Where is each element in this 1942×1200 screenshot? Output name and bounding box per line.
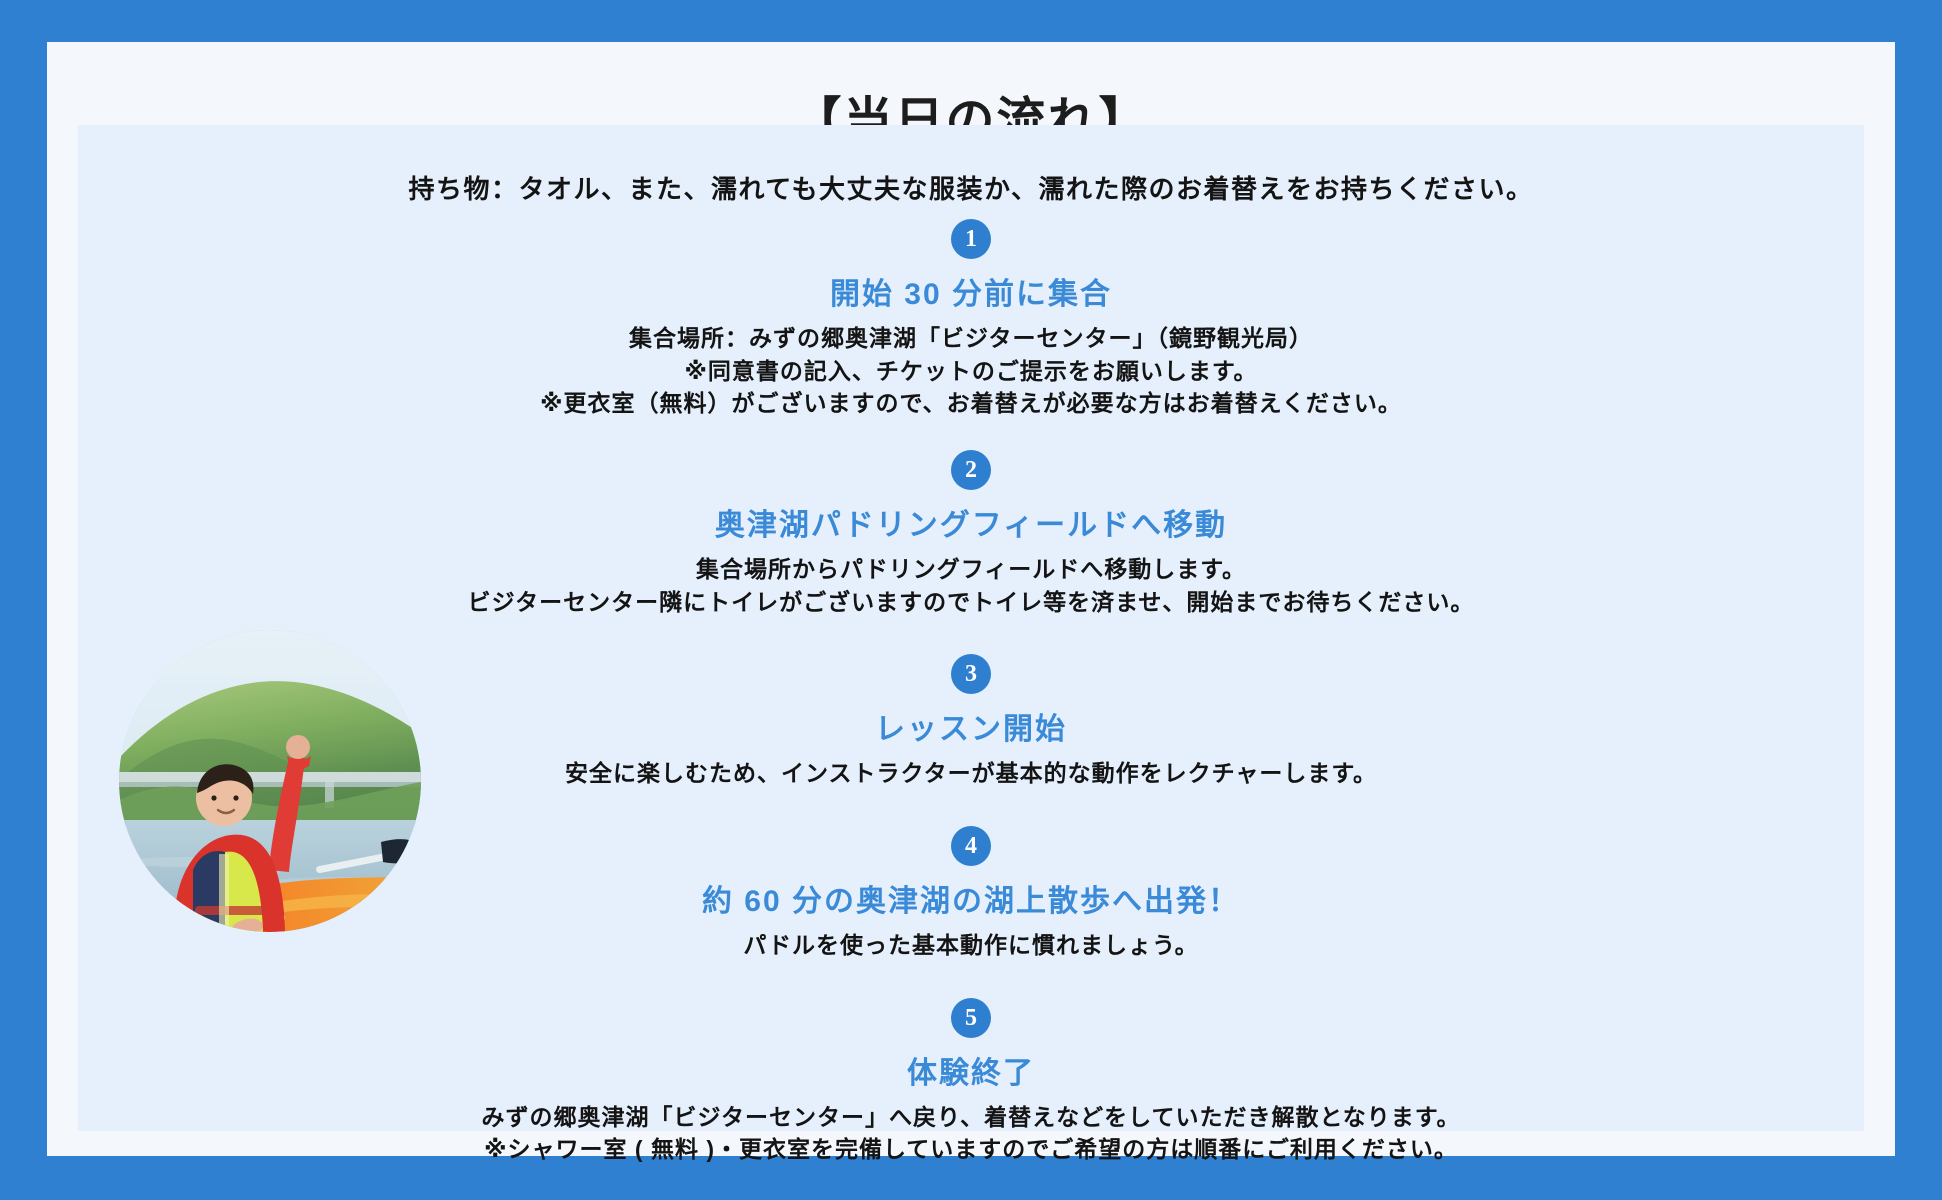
step-line: ビジターセンター隣にトイレがございますのでトイレ等を済ませ、開始までお待ちくださ…: [78, 586, 1864, 619]
step-line: ※更衣室（無料）がございますので、お着替えが必要な方はお着替えください。: [78, 387, 1864, 420]
step-line: ※同意書の記入、チケットのご提示をお願いします。: [78, 355, 1864, 388]
slide-root: 【当日の流れ】 持ち物：タオル、また、濡れても大丈夫な服装か、濡れた際のお着替え…: [0, 0, 1942, 1200]
step-title-5: 体験終了: [78, 1048, 1864, 1092]
step-line: 集合場所からパドリングフィールドへ移動します。: [78, 553, 1864, 586]
step-body-5: みずの郷奥津湖「ビジターセンター」へ戻り、着替えなどをしていただき解散となります…: [78, 1101, 1864, 1166]
step-number-badge-4: 4: [951, 826, 991, 866]
step-title-1: 開始 30 分前に集合: [78, 269, 1864, 313]
intro-note: 持ち物：タオル、また、濡れても大丈夫な服装か、濡れた際のお着替えをお持ちください…: [78, 169, 1864, 206]
step-body-4: パドルを使った基本動作に慣れましょう。: [78, 929, 1864, 962]
flow-panel: 持ち物：タオル、また、濡れても大丈夫な服装か、濡れた際のお着替えをお持ちください…: [78, 125, 1864, 1131]
step-line: みずの郷奥津湖「ビジターセンター」へ戻り、着替えなどをしていただき解散となります…: [78, 1101, 1864, 1134]
step-number-badge-2: 2: [951, 450, 991, 490]
step-item-1: 1 開始 30 分前に集合 集合場所：みずの郷奥津湖「ビジターセンター」（鏡野観…: [78, 219, 1864, 420]
step-line: ※シャワー室 ( 無料 )・更衣室を完備していますのでご希望の方は順番にご利用く…: [78, 1133, 1864, 1166]
step-title-2: 奥津湖パドリングフィールドへ移動: [78, 500, 1864, 544]
step-body-1: 集合場所：みずの郷奥津湖「ビジターセンター」（鏡野観光局） ※同意書の記入、チケ…: [78, 322, 1864, 420]
step-number-badge-1: 1: [951, 219, 991, 259]
step-number-badge-5: 5: [951, 998, 991, 1038]
step-number-badge-3: 3: [951, 654, 991, 694]
step-item-5: 5 体験終了 みずの郷奥津湖「ビジターセンター」へ戻り、着替えなどをしていただき…: [78, 998, 1864, 1166]
step-line: パドルを使った基本動作に慣れましょう。: [78, 929, 1864, 962]
kayak-photo: Rior: [119, 630, 421, 932]
step-line: 集合場所：みずの郷奥津湖「ビジターセンター」（鏡野観光局）: [78, 322, 1864, 355]
step-item-2: 2 奥津湖パドリングフィールドへ移動 集合場所からパドリングフィールドへ移動しま…: [78, 450, 1864, 618]
step-body-2: 集合場所からパドリングフィールドへ移動します。 ビジターセンター隣にトイレがござ…: [78, 553, 1864, 618]
content-card: 【当日の流れ】 持ち物：タオル、また、濡れても大丈夫な服装か、濡れた際のお着替え…: [47, 42, 1895, 1156]
